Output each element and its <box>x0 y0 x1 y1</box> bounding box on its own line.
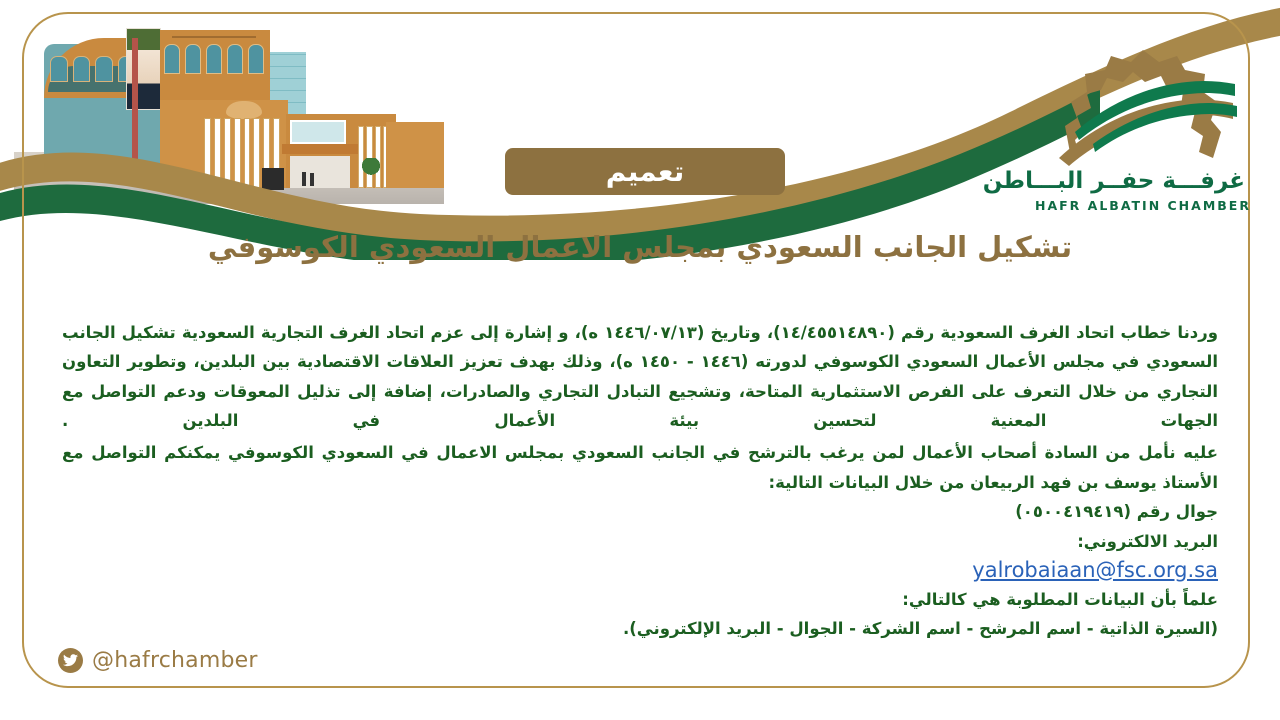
building-main-windows <box>164 44 264 74</box>
street-cabinet <box>262 168 284 190</box>
twitter-handle-block[interactable]: @hafrchamber <box>58 645 258 675</box>
flyer-page: تعميم غرفـــة حفــر البـــاطن HAFR ALBAT… <box>0 0 1280 720</box>
page-title: تشكيل الجانب السعودي بمجلس الاعمال السعو… <box>60 228 1220 267</box>
building-right-window <box>290 120 346 144</box>
contact-email-link[interactable]: yalrobaiaan@fsc.org.sa <box>972 558 1218 582</box>
chamber-logo-mark <box>1035 40 1245 170</box>
requirements-intro: علماً بأن البيانات المطلوبة هي كالتالي: <box>62 585 1218 614</box>
body-paragraph-1: وردنا خطاب اتحاد الغرف السعودية رقم (١٤/… <box>62 318 1218 435</box>
chamber-logo: غرفـــة حفــر البـــاطن HAFR ALBATIN CHA… <box>1035 40 1245 215</box>
palm-shrub <box>360 158 382 184</box>
body-paragraph-2: عليه نأمل من السادة أصحاب الأعمال لمن ير… <box>62 438 1218 497</box>
contact-phone-line: جوال رقم (٠٥٠٠٤١٩٤١٩) <box>62 497 1218 526</box>
logo-arabic-name: غرفـــة حفــر البـــاطن <box>1035 168 1245 194</box>
chamber-building-photo <box>14 8 444 204</box>
twitter-icon <box>58 648 83 673</box>
building-right-canopy <box>282 144 362 154</box>
requirements-list: (السيرة الذاتية - اسم المرشح - اسم الشرك… <box>62 614 1218 643</box>
building-main-signboard <box>166 32 262 44</box>
building-emblem <box>226 101 262 119</box>
building-far-block <box>386 122 444 188</box>
circular-type-label: تعميم <box>606 158 684 186</box>
contact-email-row: yalrobaiaan@fsc.org.sa <box>62 558 1218 582</box>
logo-english-name: HAFR ALBATIN CHAMBER <box>1035 198 1245 213</box>
pedestrian-figure <box>302 172 306 186</box>
building-flagpole <box>132 38 138 178</box>
building-entrance-door <box>290 156 350 188</box>
pedestrian-figure-2 <box>310 173 314 186</box>
circular-type-banner: تعميم <box>505 148 785 195</box>
contact-email-label: البريد الالكتروني: <box>62 527 1218 556</box>
circular-body: وردنا خطاب اتحاد الغرف السعودية رقم (١٤/… <box>62 318 1218 644</box>
twitter-handle-text: @hafrchamber <box>92 648 258 673</box>
